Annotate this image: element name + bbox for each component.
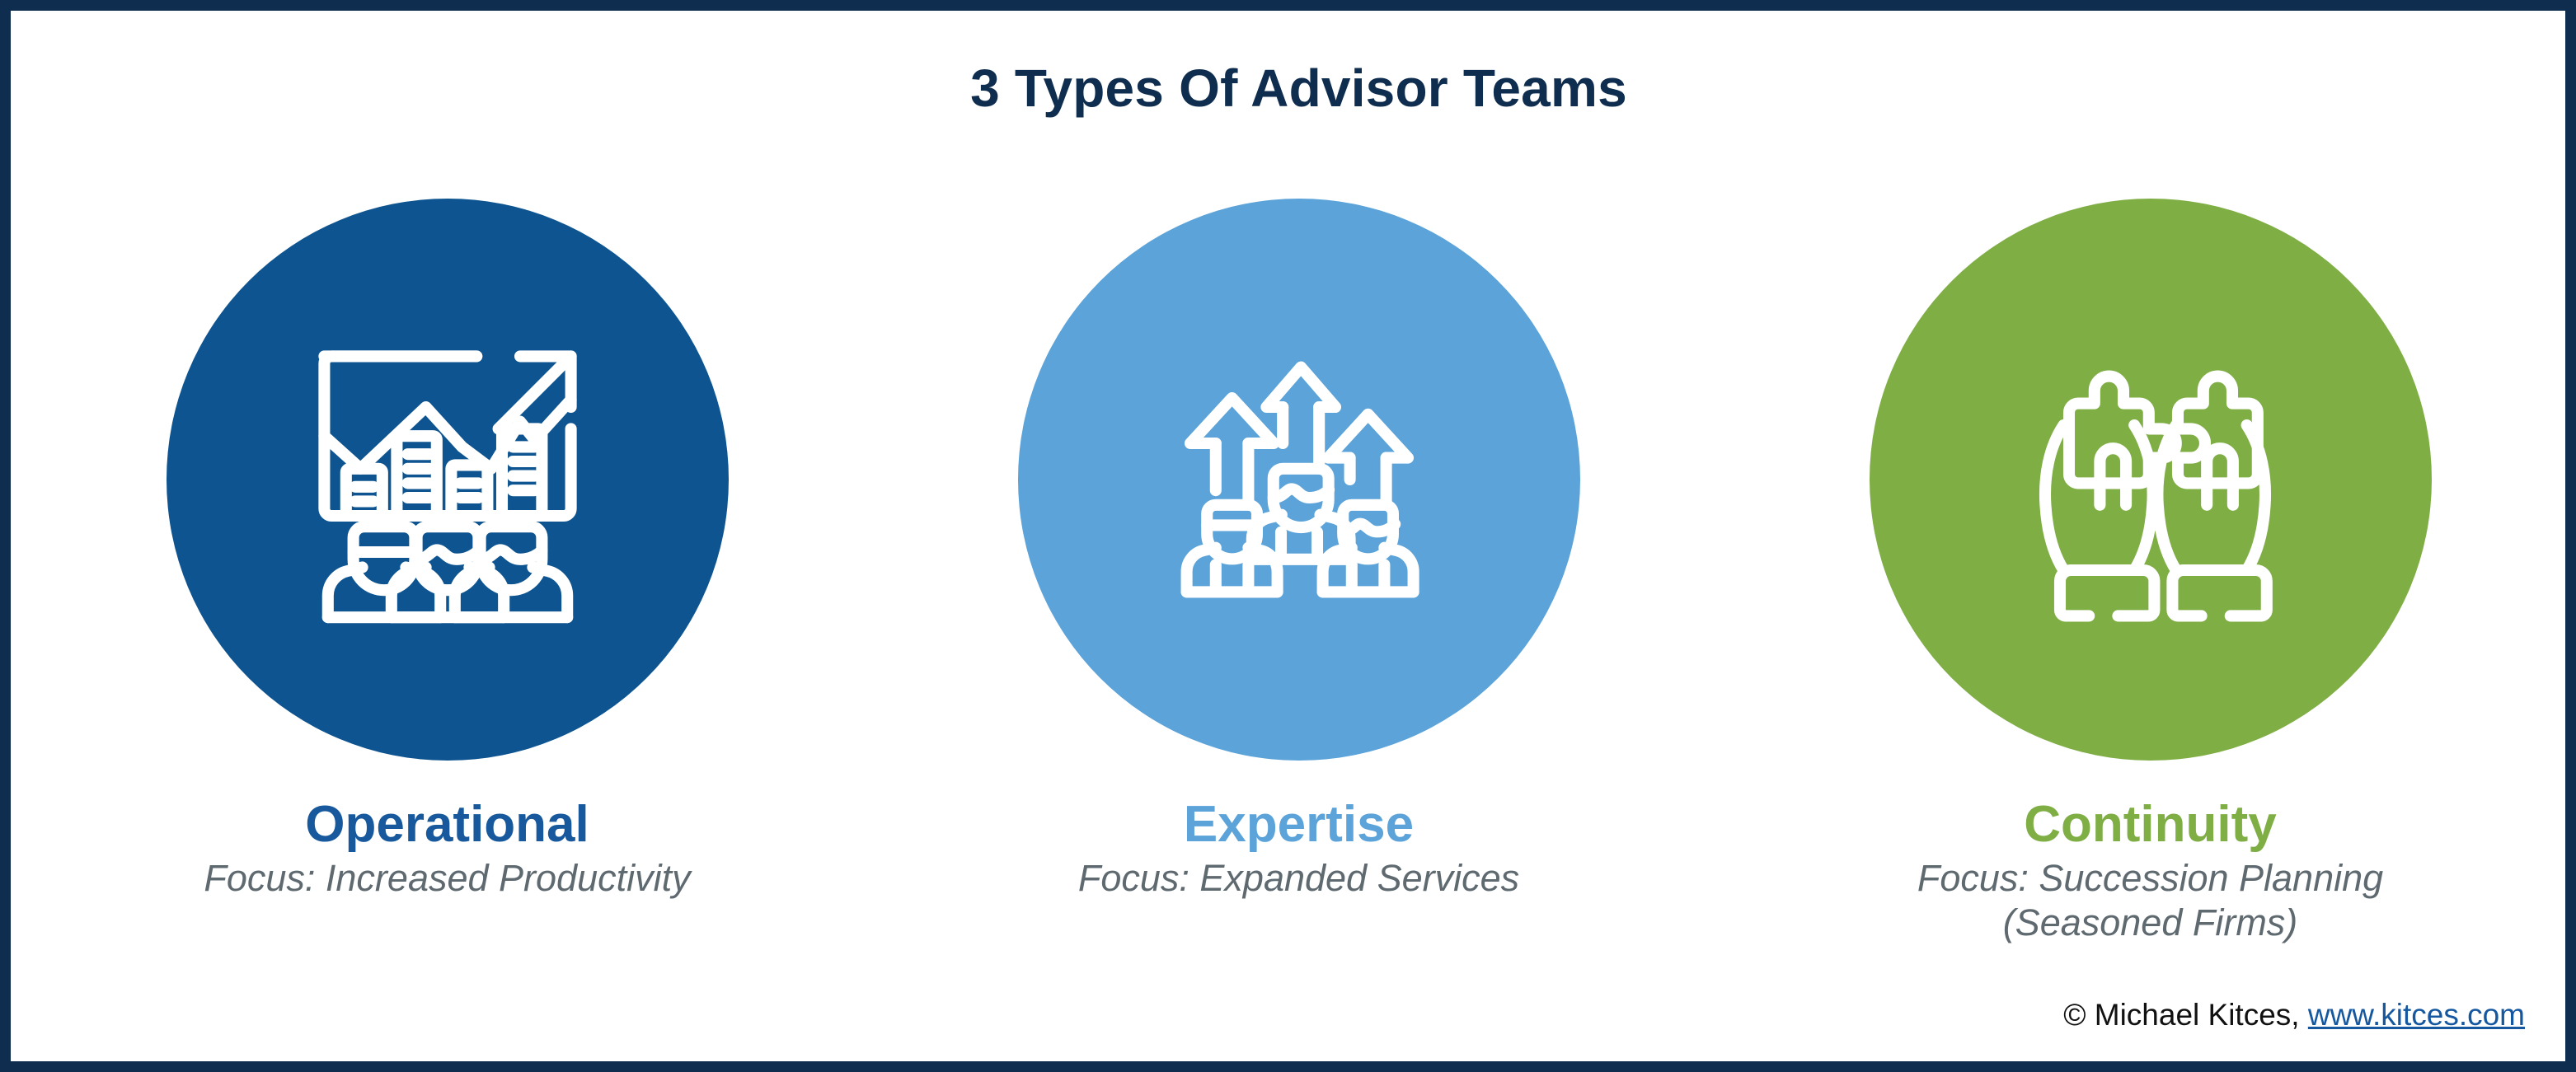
team-type-continuity: Continuity Focus: Succession Planning (S…	[1724, 199, 2576, 944]
expertise-icon-circle	[1018, 199, 1580, 761]
slide-frame: 3 Types Of Advisor Teams	[0, 0, 2576, 1072]
kitces-website-link[interactable]: www.kitces.com	[2308, 998, 2525, 1032]
team-type-operational: Operational Focus: Increased Productivit…	[21, 199, 873, 901]
people-growth-arrows-icon	[1118, 298, 1480, 661]
team-types-row: Operational Focus: Increased Productivit…	[21, 199, 2576, 944]
expertise-focus: Focus: Expanded Services	[1078, 856, 1519, 900]
page-title: 3 Types Of Advisor Teams	[21, 61, 2576, 116]
operational-title: Operational	[305, 798, 589, 851]
copyright-footer: © Michael Kitces, www.kitces.com	[2063, 998, 2525, 1032]
team-type-expertise: Expertise Focus: Expanded Services	[873, 199, 1724, 901]
continuity-title: Continuity	[2024, 798, 2277, 851]
two-people-puzzle-icon	[1969, 298, 2332, 661]
operational-focus: Focus: Increased Productivity	[204, 856, 690, 900]
continuity-focus: Focus: Succession Planning (Seasoned Fir…	[1917, 856, 2383, 943]
copyright-text: © Michael Kitces,	[2063, 998, 2308, 1032]
slide-canvas: 3 Types Of Advisor Teams	[21, 21, 2555, 1051]
presentation-chart-team-icon	[266, 298, 629, 661]
continuity-icon-circle	[1870, 199, 2432, 761]
expertise-title: Expertise	[1184, 798, 1414, 851]
operational-icon-circle	[167, 199, 729, 761]
